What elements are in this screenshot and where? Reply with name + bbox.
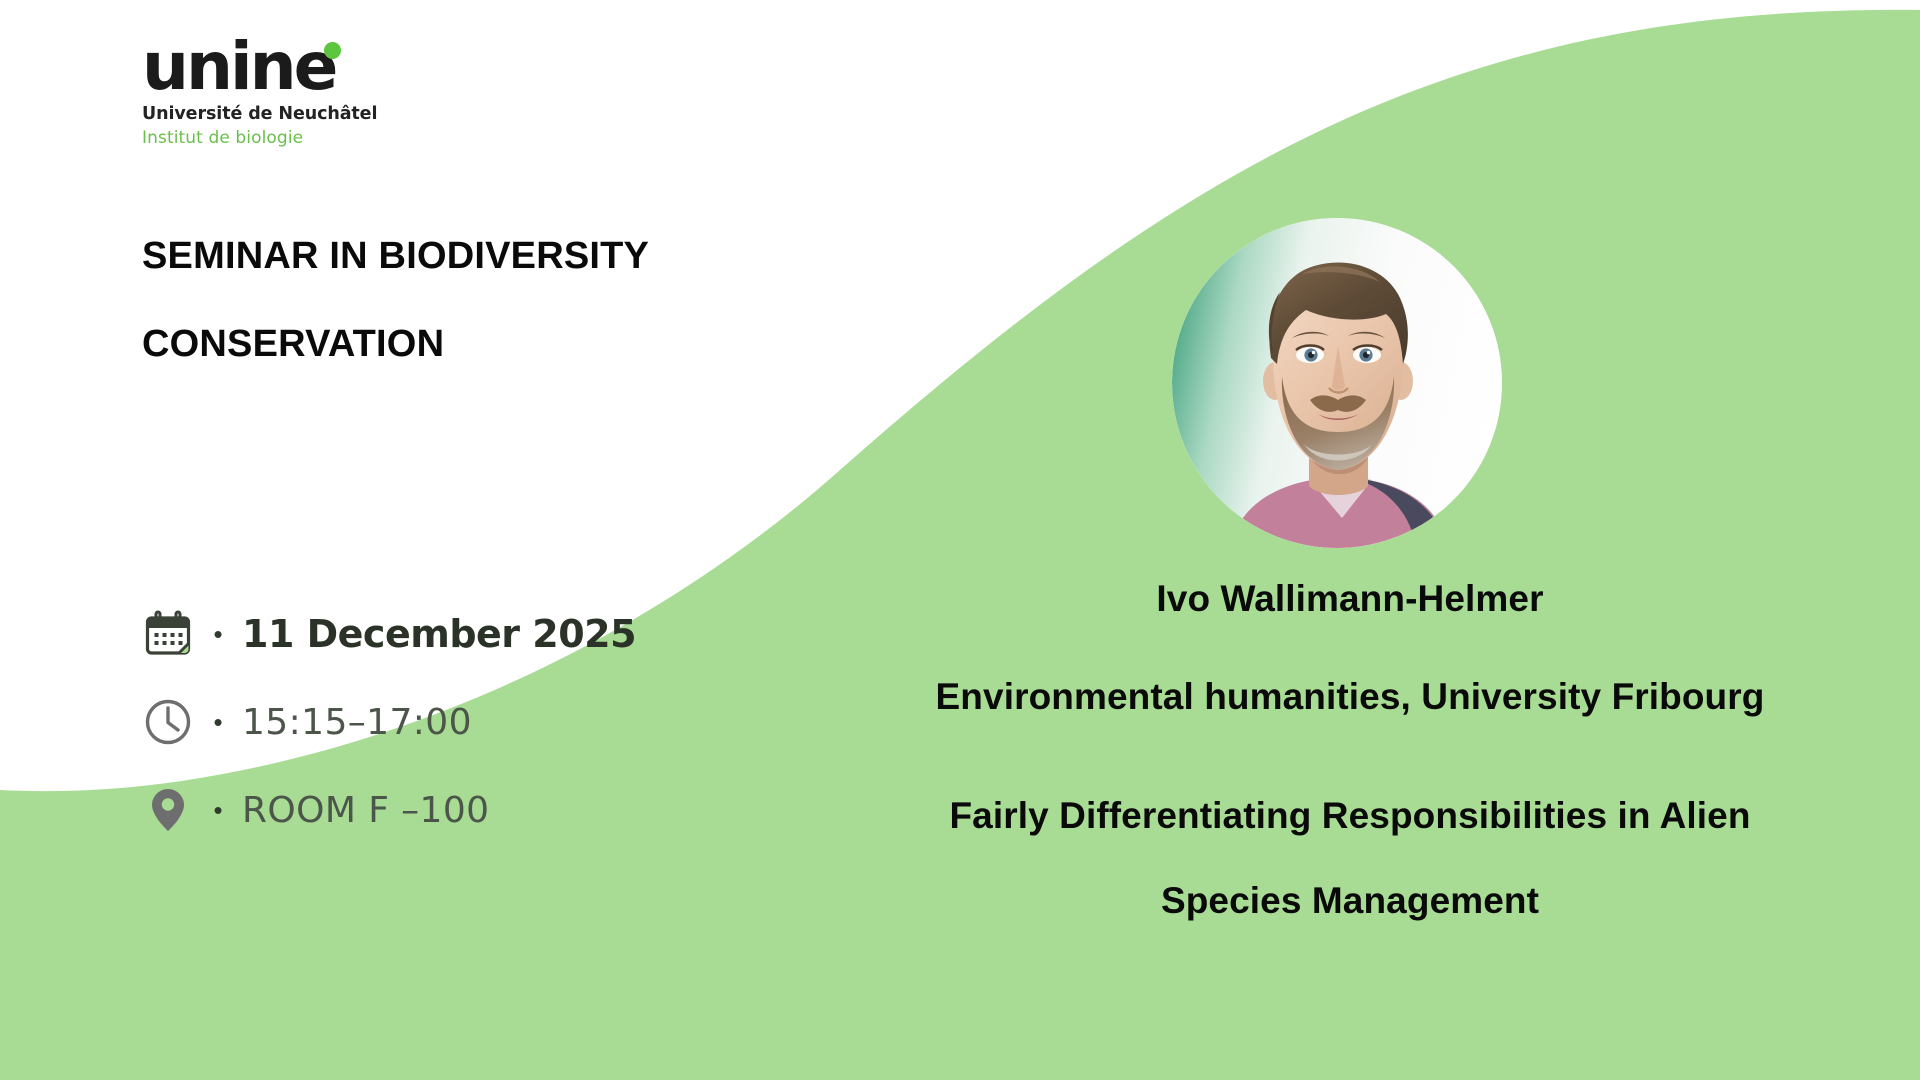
bullet-separator: • [194, 709, 242, 735]
speaker-name: Ivo Wallimann-Helmer [860, 580, 1840, 617]
speaker-details: Ivo Wallimann-Helmer Environmental human… [860, 580, 1840, 943]
talk-title-line-2: Species Management [860, 858, 1840, 943]
location-pin-icon [142, 784, 194, 836]
event-date-value: 11 December 2025 [242, 612, 636, 656]
green-dot-icon [324, 42, 341, 59]
speaker-portrait [1172, 218, 1502, 548]
event-info-row-room: • ROOM F –100 [142, 766, 636, 854]
calendar-icon [142, 608, 194, 660]
clock-icon [142, 696, 194, 748]
logo-institute-text: Institut de biologie [142, 130, 377, 147]
talk-title: Fairly Differentiating Responsibilities … [860, 773, 1840, 943]
seminar-heading: SEMINAR IN BIODIVERSITY CONSERVATION [142, 212, 782, 388]
speaker-affiliation: Environmental humanities, University Fri… [860, 678, 1840, 715]
talk-title-line-1: Fairly Differentiating Responsibilities … [860, 773, 1840, 858]
seminar-poster: unine Université de Neuchâtel Institut d… [0, 0, 1920, 1080]
logo-wordmark-text: unine [142, 36, 335, 98]
bullet-separator: • [194, 797, 242, 823]
bullet-separator: • [194, 621, 242, 647]
event-info-row-date: • 11 December 2025 [142, 590, 636, 678]
event-time-value: 15:15–17:00 [242, 702, 472, 743]
event-info-list: • 11 December 2025 • 15:15–17:00 • [142, 590, 636, 854]
event-info-row-time: • 15:15–17:00 [142, 678, 636, 766]
seminar-heading-line-2: CONSERVATION [142, 300, 782, 388]
logo-wordmark-wrap: unine [142, 36, 377, 98]
seminar-heading-line-1: SEMINAR IN BIODIVERSITY [142, 212, 782, 300]
event-room-value: ROOM F –100 [242, 790, 489, 831]
logo-university-text: Université de Neuchâtel [142, 106, 377, 124]
unine-logo: unine Université de Neuchâtel Institut d… [142, 36, 377, 147]
